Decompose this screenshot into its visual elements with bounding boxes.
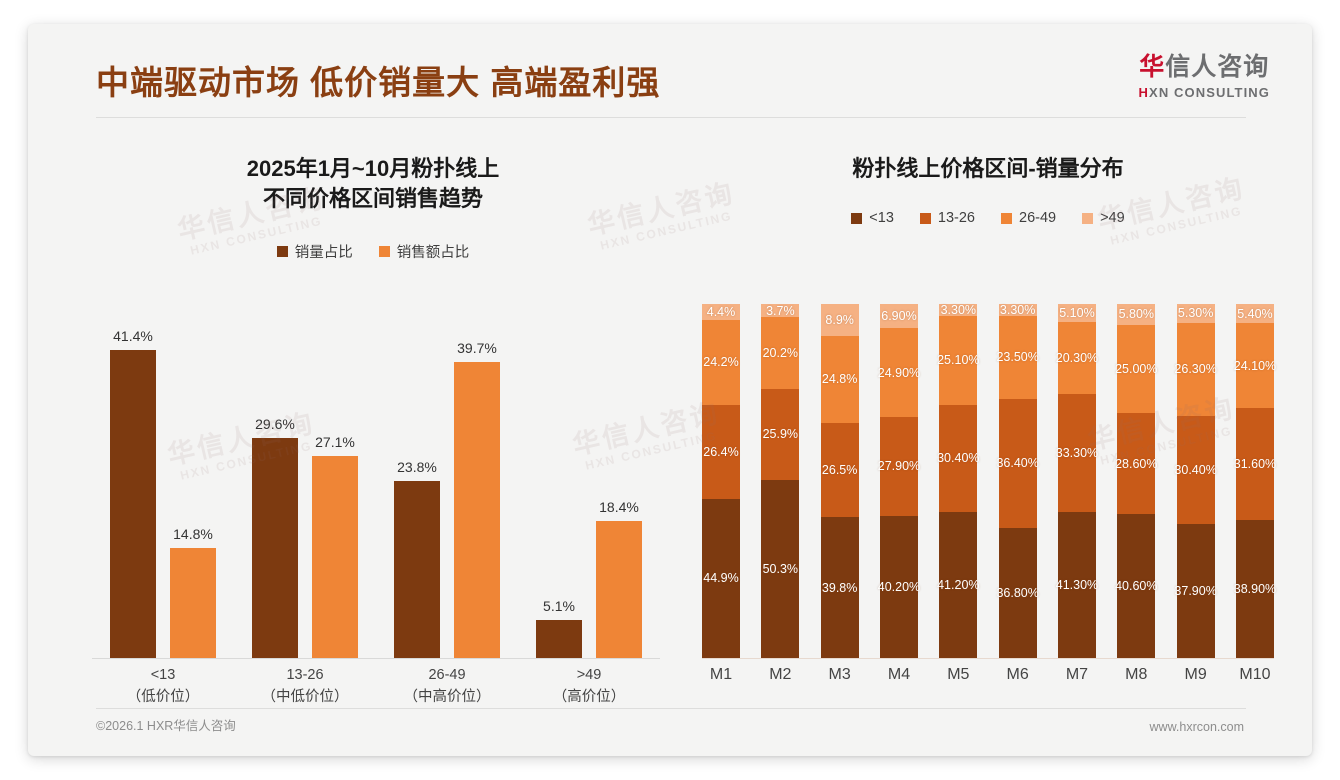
grouped-bar-plot-area: 41.4%14.8%29.6%27.1%23.8%39.7%5.1%18.4%: [92, 323, 660, 658]
segment-value-label: 26.5%: [822, 463, 857, 477]
x-tick-label: M3: [821, 666, 859, 684]
chart-title-left-line2: 不同价格区间销售趋势: [68, 184, 678, 214]
x-tick-label: M1: [702, 666, 740, 684]
segment-value-label: 28.60%: [1115, 457, 1157, 471]
stacked-segment[interactable]: 6.90%: [880, 304, 918, 328]
legend-item-right-2[interactable]: 26-49: [1001, 210, 1056, 226]
legend-item-right-0[interactable]: <13: [851, 210, 894, 226]
x-tick-label: M7: [1058, 666, 1096, 684]
stacked-bar-column[interactable]: 3.30%25.10%30.40%41.20%: [939, 304, 977, 658]
x-tick-range: 26-49: [387, 664, 507, 686]
legend-swatch-icon: [851, 213, 862, 224]
legend-item-right-1[interactable]: 13-26: [920, 210, 975, 226]
stacked-segment[interactable]: 23.50%: [999, 316, 1037, 399]
footer-website[interactable]: www.hxrcon.com: [1150, 720, 1244, 734]
slide-header: 中端驱动市场 低价销量大 高端盈利强 华信人咨询 HXN CONSULTING: [28, 24, 1312, 120]
segment-value-label: 24.10%: [1234, 359, 1276, 373]
stacked-segment[interactable]: 50.3%: [761, 480, 799, 658]
stacked-segment[interactable]: 25.9%: [761, 389, 799, 481]
bar-value-label: 18.4%: [599, 499, 639, 515]
legend-label: <13: [869, 210, 894, 226]
x-tick-sublabel: （中高价位）: [387, 686, 507, 708]
chart-legend-left: 销量占比销售额占比: [68, 241, 678, 262]
bar-item[interactable]: 27.1%: [312, 323, 358, 658]
bar-value-label: 14.8%: [173, 526, 213, 542]
legend-item-left-0[interactable]: 销量占比: [277, 241, 353, 262]
stacked-segment[interactable]: 44.9%: [702, 499, 740, 658]
stacked-segment[interactable]: 8.9%: [821, 304, 859, 336]
segment-value-label: 20.30%: [1056, 351, 1098, 365]
stacked-bar-column[interactable]: 5.30%26.30%30.40%37.90%: [1177, 304, 1215, 658]
bar-item[interactable]: 5.1%: [536, 323, 582, 658]
bar[interactable]: [312, 456, 358, 658]
stacked-segment[interactable]: 5.30%: [1177, 304, 1215, 323]
logo-char-h: H: [1139, 85, 1150, 100]
stacked-bar-column[interactable]: 3.7%20.2%25.9%50.3%: [761, 304, 799, 658]
x-tick-label: >49（高价位）: [529, 664, 649, 709]
segment-value-label: 24.90%: [878, 366, 920, 380]
segment-value-label: 5.80%: [1119, 307, 1154, 321]
x-tick-range: >49: [529, 664, 649, 686]
stacked-segment[interactable]: 28.60%: [1117, 413, 1155, 514]
stacked-segment[interactable]: 5.10%: [1058, 304, 1096, 322]
segment-value-label: 44.9%: [703, 571, 738, 585]
segment-value-label: 25.10%: [937, 353, 979, 367]
stacked-segment[interactable]: 20.30%: [1058, 322, 1096, 394]
stacked-segment[interactable]: 41.20%: [939, 512, 977, 658]
stacked-segment[interactable]: 38.90%: [1236, 520, 1274, 658]
chart-panel-volume-distribution: 粉扑线上价格区间-销量分布 <1313-2626-49>49 4.4%24.2%…: [688, 128, 1288, 708]
bar[interactable]: [596, 521, 642, 658]
segment-value-label: 4.4%: [707, 305, 736, 319]
slide-canvas: 华信人咨询 HXN CONSULTING 华信人咨询 HXN CONSULTIN…: [28, 24, 1312, 756]
x-tick-range: <13: [103, 664, 223, 686]
x-tick-range: 13-26: [245, 664, 365, 686]
x-tick-sublabel: （低价位）: [103, 686, 223, 708]
bar[interactable]: [536, 620, 582, 658]
chart-panel-price-band-trend: 2025年1月~10月粉扑线上 不同价格区间销售趋势 销量占比销售额占比 41.…: [68, 128, 678, 708]
segment-value-label: 20.2%: [763, 346, 798, 360]
stacked-segment[interactable]: 4.4%: [702, 304, 740, 320]
stacked-segment[interactable]: 31.60%: [1236, 408, 1274, 520]
stacked-segment[interactable]: 40.20%: [880, 516, 918, 658]
x-tick-label: 13-26（中低价位）: [245, 664, 365, 709]
stacked-segment[interactable]: 26.5%: [821, 423, 859, 517]
segment-value-label: 39.8%: [822, 581, 857, 595]
bar-item[interactable]: 41.4%: [110, 323, 156, 658]
x-tick-label: <13（低价位）: [103, 664, 223, 709]
segment-value-label: 23.50%: [996, 350, 1038, 364]
bar[interactable]: [110, 350, 156, 658]
segment-value-label: 5.30%: [1178, 306, 1213, 320]
stacked-segment[interactable]: 26.30%: [1177, 323, 1215, 416]
segment-value-label: 5.10%: [1059, 306, 1094, 320]
legend-label: 26-49: [1019, 210, 1056, 226]
bar-item[interactable]: 23.8%: [394, 323, 440, 658]
header-divider: [96, 117, 1246, 118]
stacked-segment[interactable]: 26.4%: [702, 405, 740, 499]
segment-value-label: 3.7%: [766, 304, 795, 318]
bar-value-label: 23.8%: [397, 459, 437, 475]
segment-value-label: 41.20%: [937, 578, 979, 592]
stacked-segment[interactable]: 40.60%: [1117, 514, 1155, 658]
stacked-segment[interactable]: 41.30%: [1058, 512, 1096, 658]
stacked-segment[interactable]: 3.30%: [999, 304, 1037, 316]
stacked-segment[interactable]: 37.90%: [1177, 524, 1215, 658]
stacked-bar-column[interactable]: 8.9%24.8%26.5%39.8%: [821, 304, 859, 658]
segment-value-label: 26.4%: [703, 445, 738, 459]
stacked-bar-column[interactable]: 5.10%20.30%33.30%41.30%: [1058, 304, 1096, 658]
logo-chinese-rest: 信人咨询: [1165, 53, 1269, 81]
x-axis-labels-right: M1M2M3M4M5M6M7M8M9M10: [702, 666, 1274, 684]
legend-swatch-icon: [277, 246, 288, 257]
segment-value-label: 6.90%: [881, 309, 916, 323]
segment-value-label: 36.80%: [996, 586, 1038, 600]
bar-group: 29.6%27.1%: [252, 323, 358, 658]
bar-group: 41.4%14.8%: [110, 323, 216, 658]
x-tick-label: M6: [999, 666, 1037, 684]
segment-value-label: 24.8%: [822, 372, 857, 386]
stacked-segment[interactable]: 20.2%: [761, 317, 799, 388]
bar-value-label: 39.7%: [457, 340, 497, 356]
bar[interactable]: [454, 362, 500, 658]
chart-title-right: 粉扑线上价格区间-销量分布: [688, 154, 1288, 184]
stacked-bar-plot-area: 4.4%24.2%26.4%44.9%3.7%20.2%25.9%50.3%8.…: [702, 304, 1274, 658]
stacked-segment[interactable]: 24.2%: [702, 320, 740, 406]
stacked-bar-column[interactable]: 4.4%24.2%26.4%44.9%: [702, 304, 740, 658]
stacked-segment[interactable]: 3.30%: [939, 304, 977, 316]
bar-group: 23.8%39.7%: [394, 323, 500, 658]
legend-swatch-icon: [379, 246, 390, 257]
segment-value-label: 41.30%: [1056, 578, 1098, 592]
segment-value-label: 36.40%: [996, 456, 1038, 470]
bar[interactable]: [170, 548, 216, 658]
segment-value-label: 24.2%: [703, 355, 738, 369]
logo-english-rest: XN CONSULTING: [1149, 85, 1270, 100]
stacked-segment[interactable]: 36.80%: [999, 528, 1037, 658]
stacked-bar-column[interactable]: 5.40%24.10%31.60%38.90%: [1236, 304, 1274, 658]
stacked-segment[interactable]: 3.7%: [761, 304, 799, 317]
x-axis-line-right: [702, 658, 1274, 659]
footer-divider: [96, 708, 1246, 709]
x-tick-sublabel: （中低价位）: [245, 686, 365, 708]
stacked-segment[interactable]: 33.30%: [1058, 394, 1096, 512]
segment-value-label: 25.00%: [1115, 362, 1157, 376]
bar-value-label: 5.1%: [543, 598, 575, 614]
segment-value-label: 37.90%: [1174, 584, 1216, 598]
bar-group: 5.1%18.4%: [536, 323, 642, 658]
x-tick-label: M4: [880, 666, 918, 684]
segment-value-label: 50.3%: [763, 562, 798, 576]
chart-legend-right: <1313-2626-49>49: [688, 210, 1288, 226]
segment-value-label: 31.60%: [1234, 457, 1276, 471]
legend-label: 13-26: [938, 210, 975, 226]
x-tick-label: 26-49（中高价位）: [387, 664, 507, 709]
bar[interactable]: [394, 481, 440, 658]
bar-item[interactable]: 14.8%: [170, 323, 216, 658]
segment-value-label: 38.90%: [1234, 582, 1276, 596]
segment-value-label: 26.30%: [1174, 362, 1216, 376]
stacked-segment[interactable]: 5.40%: [1236, 304, 1274, 323]
stacked-segment[interactable]: 30.40%: [939, 405, 977, 513]
x-tick-label: M2: [761, 666, 799, 684]
bar-item[interactable]: 18.4%: [596, 323, 642, 658]
bar-value-label: 29.6%: [255, 416, 295, 432]
logo-chinese-text: 华信人咨询: [1139, 54, 1270, 82]
x-tick-sublabel: （高价位）: [529, 686, 649, 708]
logo-english-text: HXN CONSULTING: [1139, 85, 1270, 100]
page-title: 中端驱动市场 低价销量大 高端盈利强: [96, 56, 660, 104]
bar-value-label: 27.1%: [315, 434, 355, 450]
stacked-segment[interactable]: 24.8%: [821, 336, 859, 424]
x-axis-line-left: [92, 658, 660, 659]
segment-value-label: 25.9%: [763, 427, 798, 441]
stacked-segment[interactable]: 25.00%: [1117, 325, 1155, 414]
segment-value-label: 33.30%: [1056, 446, 1098, 460]
segment-value-label: 30.40%: [937, 451, 979, 465]
company-logo: 华信人咨询 HXN CONSULTING: [1139, 54, 1270, 100]
segment-value-label: 40.60%: [1115, 579, 1157, 593]
chart-title-left: 2025年1月~10月粉扑线上 不同价格区间销售趋势: [68, 154, 678, 215]
segment-value-label: 27.90%: [878, 459, 920, 473]
bar-item[interactable]: 39.7%: [454, 323, 500, 658]
legend-swatch-icon: [1001, 213, 1012, 224]
x-axis-labels-left: <13（低价位）13-26（中低价位）26-49（中高价位）>49（高价位）: [92, 664, 660, 709]
bar-item[interactable]: 29.6%: [252, 323, 298, 658]
bar[interactable]: [252, 438, 298, 658]
segment-value-label: 8.9%: [825, 313, 854, 327]
footer-copyright: ©2026.1 HXR华信人咨询: [96, 715, 236, 734]
stacked-segment[interactable]: 36.40%: [999, 399, 1037, 528]
stacked-segment[interactable]: 39.8%: [821, 517, 859, 658]
legend-label: >49: [1100, 210, 1125, 226]
legend-label: 销量占比: [295, 241, 353, 262]
x-tick-label: M8: [1117, 666, 1155, 684]
segment-value-label: 40.20%: [878, 580, 920, 594]
segment-value-label: 30.40%: [1174, 463, 1216, 477]
x-tick-label: M5: [939, 666, 977, 684]
stacked-bar-column[interactable]: 3.30%23.50%36.40%36.80%: [999, 304, 1037, 658]
logo-char-hua: 华: [1139, 53, 1165, 81]
bar-value-label: 41.4%: [113, 328, 153, 344]
stacked-segment[interactable]: 30.40%: [1177, 416, 1215, 524]
stacked-bar-column[interactable]: 6.90%24.90%27.90%40.20%: [880, 304, 918, 658]
stacked-segment[interactable]: 24.90%: [880, 328, 918, 416]
stacked-segment[interactable]: 27.90%: [880, 417, 918, 516]
legend-swatch-icon: [920, 213, 931, 224]
segment-value-label: 5.40%: [1237, 307, 1272, 321]
stacked-segment[interactable]: 5.80%: [1117, 304, 1155, 325]
legend-label: 销售额占比: [397, 241, 470, 262]
chart-title-left-line1: 2025年1月~10月粉扑线上: [68, 154, 678, 184]
stacked-segment[interactable]: 24.10%: [1236, 323, 1274, 408]
stacked-segment[interactable]: 25.10%: [939, 316, 977, 405]
x-tick-label: M10: [1236, 666, 1274, 684]
legend-item-right-3[interactable]: >49: [1082, 210, 1125, 226]
stacked-bar-column[interactable]: 5.80%25.00%28.60%40.60%: [1117, 304, 1155, 658]
legend-item-left-1[interactable]: 销售额占比: [379, 241, 470, 262]
legend-swatch-icon: [1082, 213, 1093, 224]
x-tick-label: M9: [1177, 666, 1215, 684]
